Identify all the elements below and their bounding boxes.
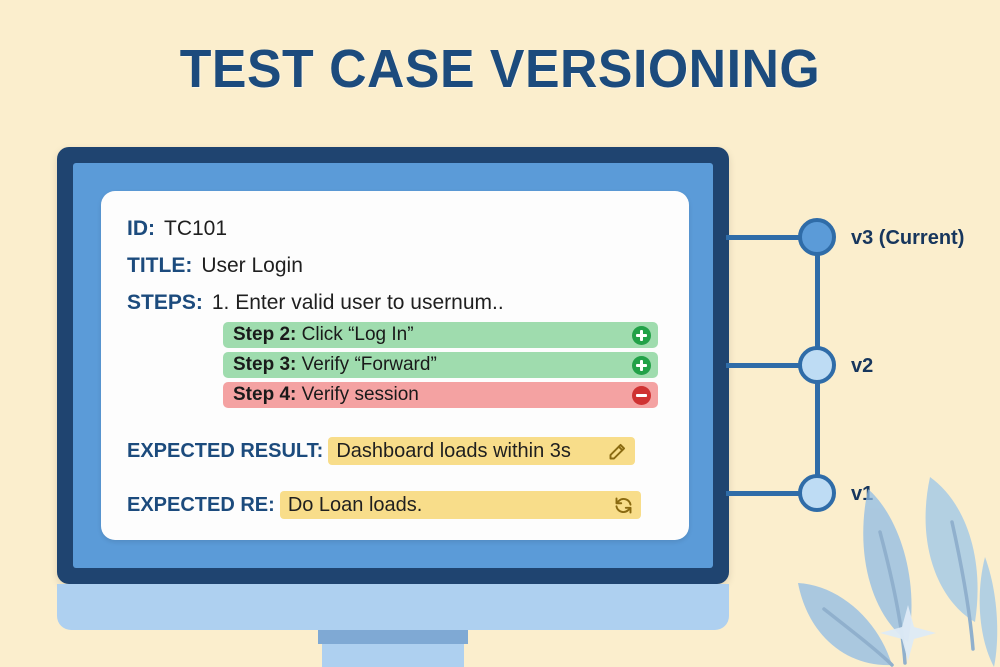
monitor-base xyxy=(57,584,729,630)
plus-circle-icon[interactable] xyxy=(632,356,651,375)
timeline-connector-v2 xyxy=(726,363,801,368)
timeline-label-v1: v1 xyxy=(851,483,873,506)
monitor-screen: ID: TC101 TITLE: User Login STEPS: 1. En… xyxy=(73,163,713,568)
expected-result-value-chip[interactable]: Dashboard loads within 3s xyxy=(328,437,635,465)
timeline-label-v3: v3 (Current) xyxy=(851,227,964,250)
monitor-stand-neck xyxy=(318,630,468,644)
sync-refresh-icon[interactable] xyxy=(613,495,634,516)
step-row-text: Step 2: Click “Log In” xyxy=(233,325,414,345)
field-id-value: TC101 xyxy=(164,217,227,241)
step-row-body: Verify session xyxy=(302,384,419,405)
step-diff-list: Step 2: Click “Log In” Step 3: Verify “F… xyxy=(223,322,658,408)
field-steps-label: STEPS: xyxy=(127,291,203,315)
expected-re-value: Do Loan loads. xyxy=(288,494,423,516)
step-row-prefix: Step 2: xyxy=(233,324,296,345)
step-row-body: Click “Log In” xyxy=(302,324,414,345)
minus-circle-icon[interactable] xyxy=(632,386,651,405)
field-id: ID: TC101 xyxy=(127,217,689,241)
plus-circle-icon[interactable] xyxy=(632,326,651,345)
timeline-node-v2[interactable] xyxy=(798,346,836,384)
page-title: TEST CASE VERSIONING xyxy=(20,38,980,100)
field-title-value: User Login xyxy=(201,254,303,278)
step-row-added-1[interactable]: Step 2: Click “Log In” xyxy=(223,322,658,348)
step-row-prefix: Step 3: xyxy=(233,354,296,375)
field-steps: STEPS: 1. Enter valid user to usernum.. xyxy=(127,291,689,315)
step-row-removed-1[interactable]: Step 4: Verify session xyxy=(223,382,658,408)
monitor-stand-foot xyxy=(322,644,464,667)
step-row-text: Step 4: Verify session xyxy=(233,385,419,405)
expected-re-label: EXPECTED RE: xyxy=(127,494,275,516)
field-title-label: TITLE: xyxy=(127,254,192,278)
field-steps-value: 1. Enter valid user to usernum.. xyxy=(212,291,504,315)
field-id-label: ID: xyxy=(127,217,155,241)
step-row-text: Step 3: Verify “Forward” xyxy=(233,355,437,375)
timeline-connector-v3 xyxy=(726,235,801,240)
step-row-prefix: Step 4: xyxy=(233,384,296,405)
timeline-node-v1[interactable] xyxy=(798,474,836,512)
expected-re-value-chip[interactable]: Do Loan loads. xyxy=(280,491,641,519)
pencil-edit-icon[interactable] xyxy=(607,441,628,462)
step-row-added-2[interactable]: Step 3: Verify “Forward” xyxy=(223,352,658,378)
timeline-connector-v1 xyxy=(726,491,801,496)
expected-result-value: Dashboard loads within 3s xyxy=(336,440,571,462)
field-title: TITLE: User Login xyxy=(127,254,689,278)
version-timeline: v3 (Current) v2 v1 xyxy=(726,190,1000,530)
expected-re-row: EXPECTED RE: Do Loan loads. xyxy=(127,491,641,519)
timeline-label-v2: v2 xyxy=(851,355,873,378)
step-row-body: Verify “Forward” xyxy=(302,354,437,375)
expected-result-row: EXPECTED RESULT: Dashboard loads within … xyxy=(127,437,635,465)
test-case-card: ID: TC101 TITLE: User Login STEPS: 1. En… xyxy=(101,191,689,540)
expected-result-label: EXPECTED RESULT: xyxy=(127,440,323,462)
monitor-bezel: ID: TC101 TITLE: User Login STEPS: 1. En… xyxy=(57,147,729,584)
timeline-node-v3[interactable] xyxy=(798,218,836,256)
